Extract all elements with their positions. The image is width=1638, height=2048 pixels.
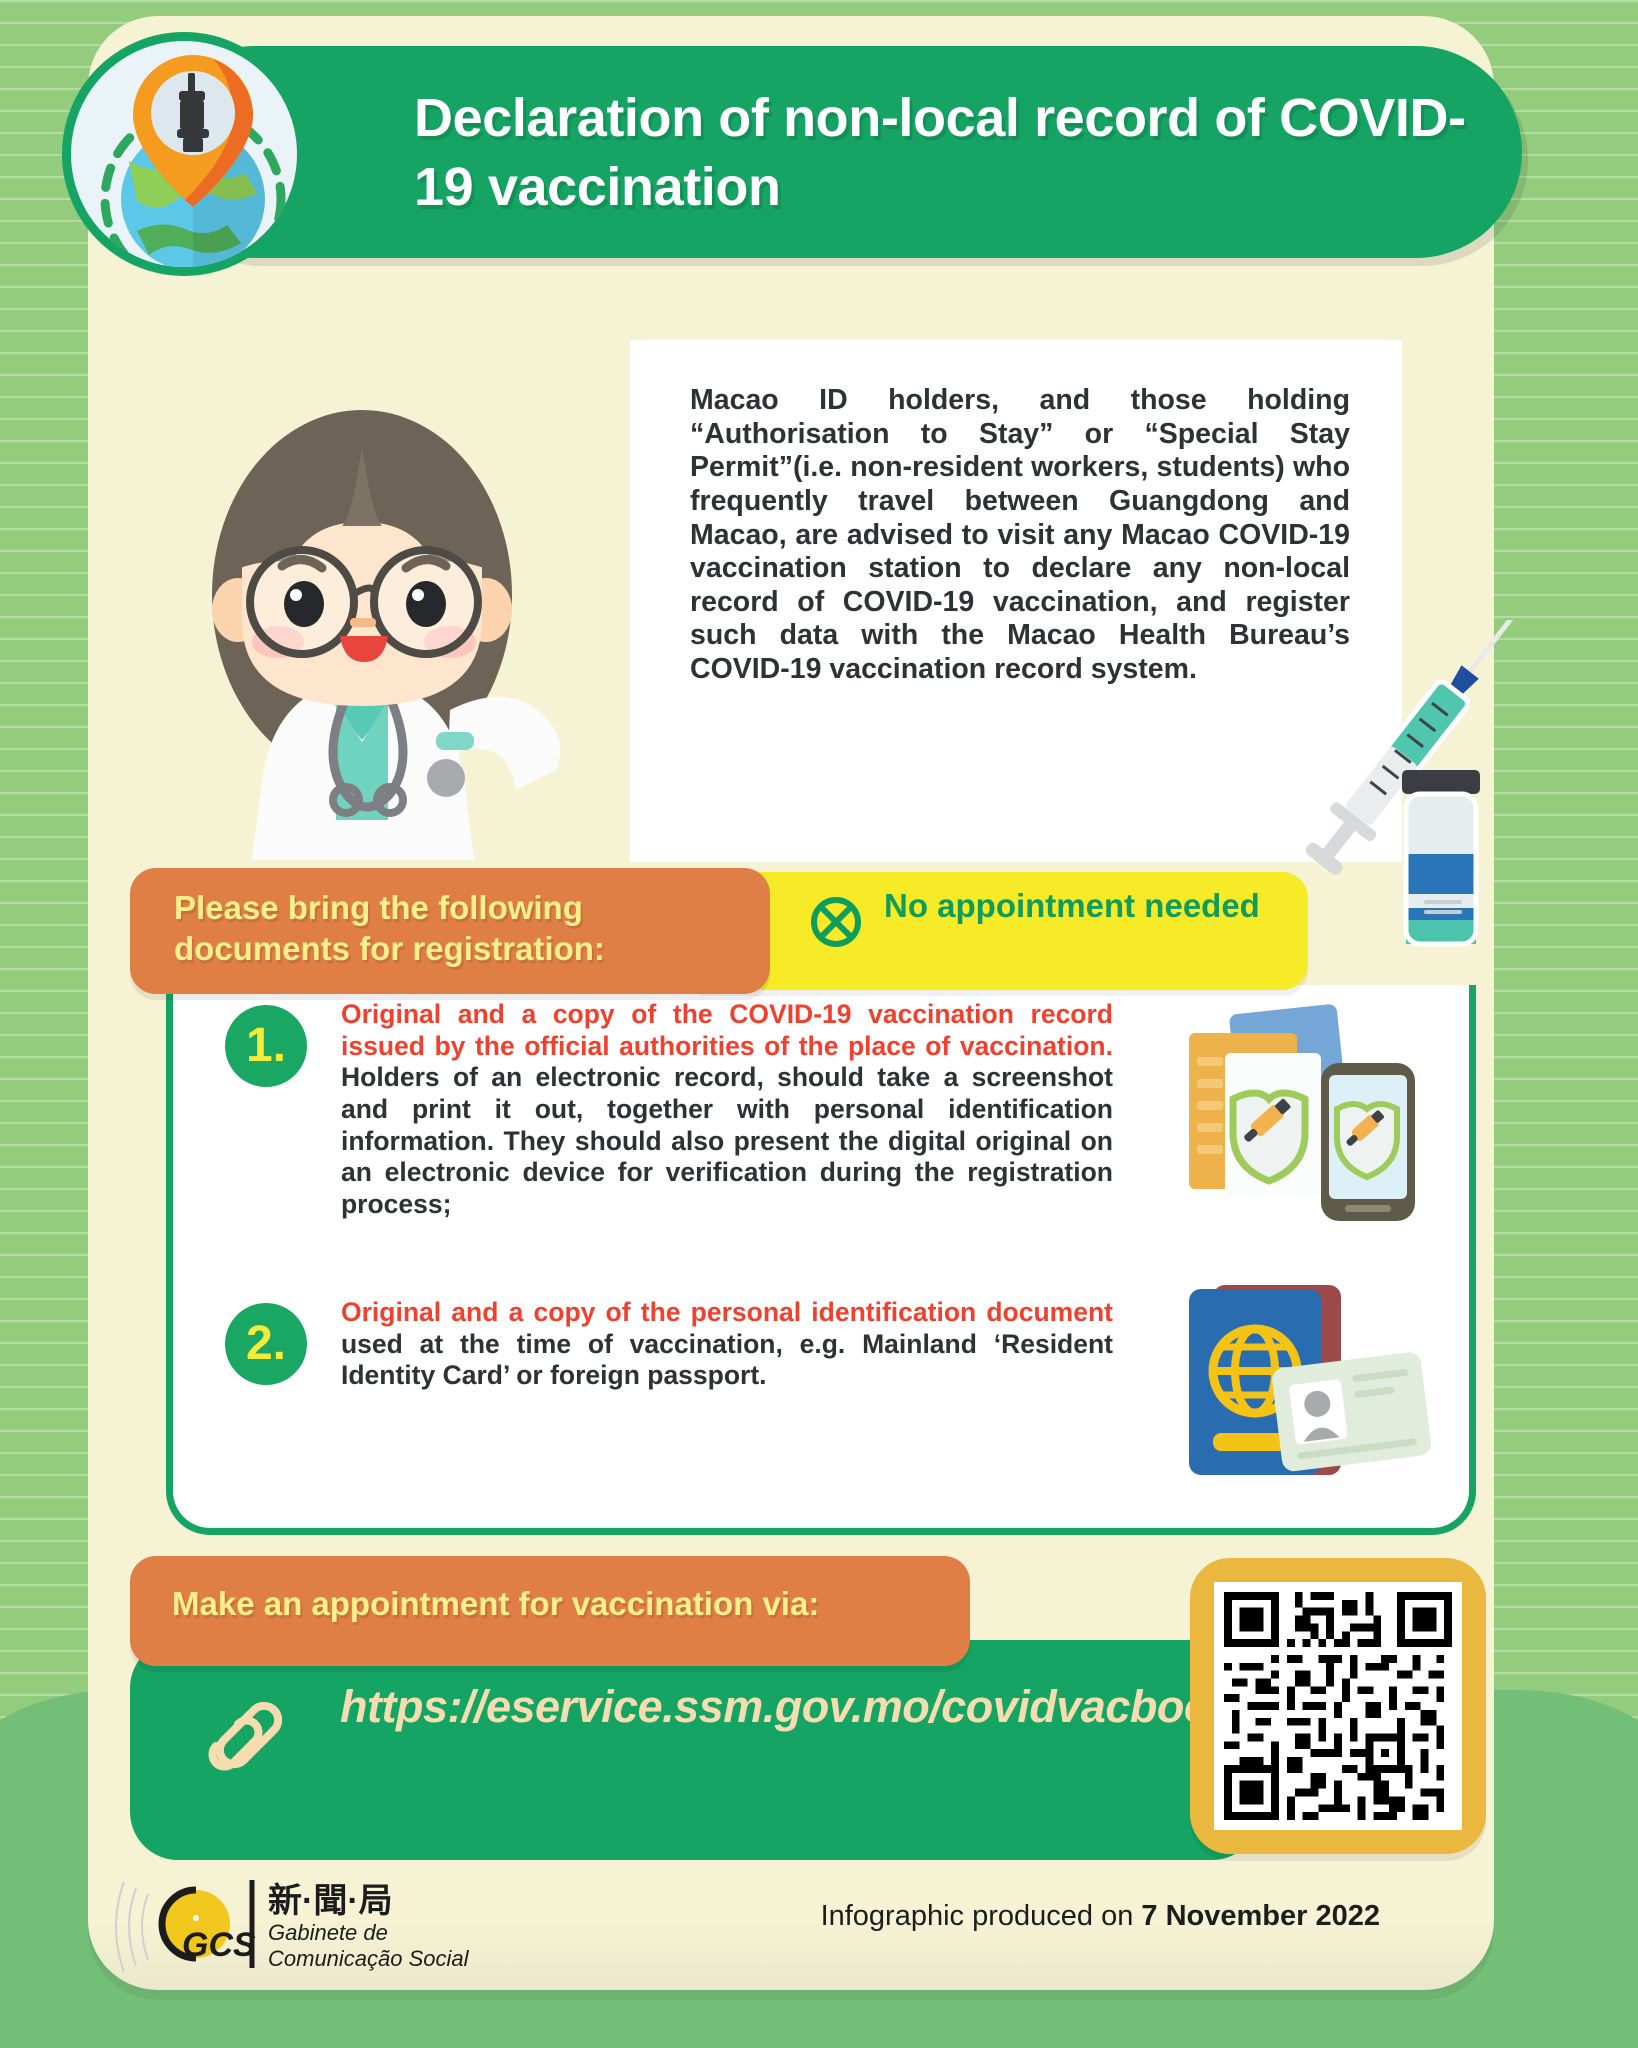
make-appointment-label: Make an appointment for vaccination via: — [172, 1584, 952, 1624]
bring-documents-banner: Please bring the following documents for… — [130, 868, 770, 994]
no-appointment-icon — [810, 896, 862, 948]
list-item-2-highlight: Original and a copy of the personal iden… — [341, 1297, 1113, 1327]
bring-documents-label: Please bring the following documents for… — [174, 888, 734, 970]
intro-text: Macao ID holders, and those holding “Aut… — [690, 384, 1350, 687]
list-item-2-body: used at the time of vaccination, e.g. Ma… — [341, 1329, 1113, 1391]
doctor-character-illustration — [150, 380, 570, 860]
paperclip-link-icon — [200, 1690, 290, 1780]
syringe-and-vial-illustration — [1290, 620, 1550, 980]
gcs-logo-pt-line1: Gabinete de — [268, 1920, 388, 1945]
gcs-logo: GCS 新·聞·局 Gabinete de Comunicação Social — [112, 1872, 472, 1982]
documents-list-card: 1. Original and a copy of the COVID-19 v… — [166, 985, 1476, 1535]
list-item-1-highlight: Original and a copy of the COVID-19 vacc… — [341, 999, 1113, 1061]
list-item-number-1: 1. — [225, 1005, 307, 1087]
list-item-1-body: Holders of an electronic record, should … — [341, 1062, 1113, 1219]
no-appointment-banner: No appointment needed — [700, 872, 1308, 990]
gcs-logo-cn: 新·聞·局 — [268, 1882, 393, 1920]
appointment-url[interactable]: https://eservice.ssm.gov.mo/covidvacbook — [340, 1680, 1020, 1733]
page-title: Declaration of non-local record of COVID… — [414, 84, 1474, 222]
passport-and-id-card-icon — [1173, 1275, 1443, 1490]
list-item: Original and a copy of the COVID-19 vacc… — [341, 999, 1113, 1221]
appointment-url-panel — [130, 1640, 1260, 1860]
production-date-value: 7 November 2022 — [1141, 1900, 1380, 1932]
qr-code-frame — [1190, 1558, 1486, 1854]
gcs-logo-mark: GCS — [182, 1926, 256, 1964]
document-and-phone-vaccine-certificate-icon — [1173, 1001, 1443, 1231]
vaccine-location-pin-globe-icon — [62, 32, 306, 276]
header-banner: Declaration of non-local record of COVID… — [150, 46, 1522, 258]
intro-panel: Macao ID holders, and those holding “Aut… — [630, 352, 1402, 862]
no-appointment-label: No appointment needed — [884, 886, 1284, 927]
production-date-prefix: Infographic produced on — [821, 1900, 1142, 1932]
make-appointment-banner: Make an appointment for vaccination via: — [130, 1556, 970, 1666]
list-item-number-2: 2. — [225, 1303, 307, 1385]
production-date: Infographic produced on 7 November 2022 — [760, 1900, 1380, 1933]
list-item: Original and a copy of the personal iden… — [341, 1297, 1113, 1392]
qr-code[interactable] — [1214, 1582, 1462, 1830]
gcs-logo-pt-line2: Comunicação Social — [268, 1946, 470, 1971]
